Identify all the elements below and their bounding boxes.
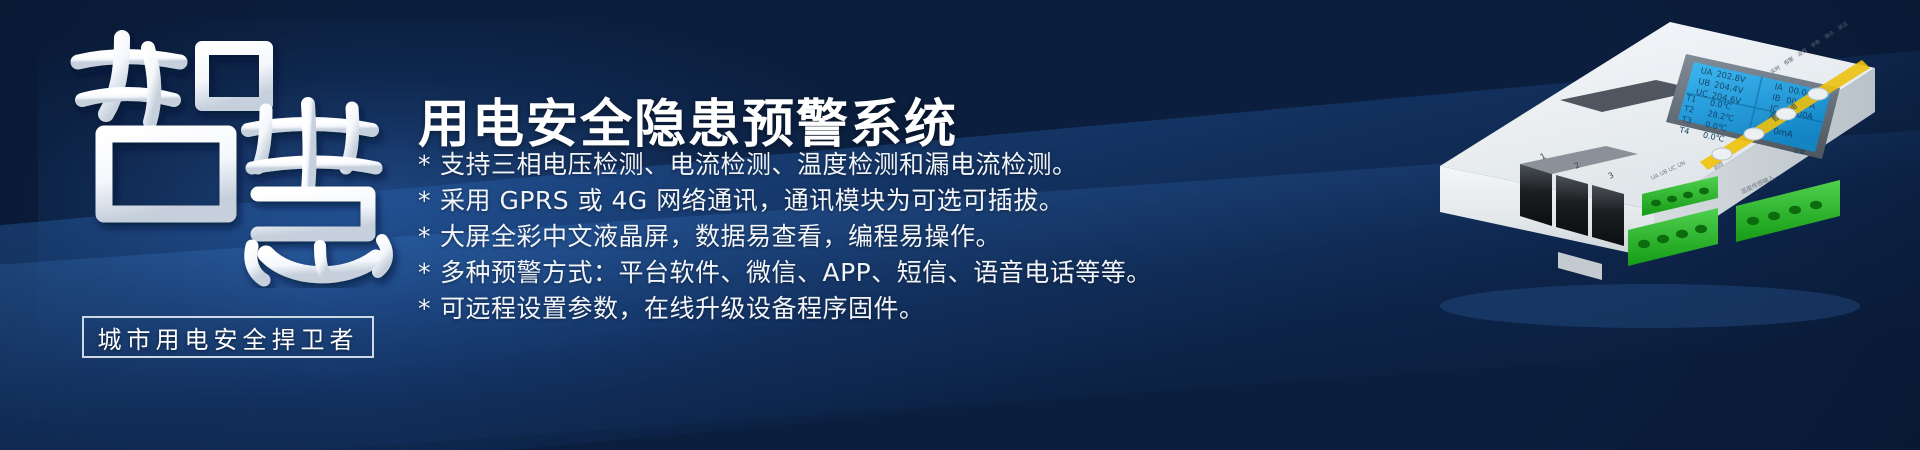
din-rail-clip <box>1558 252 1602 280</box>
page-title: 用电安全隐患预警系统 <box>418 82 958 157</box>
bullet-marker: * <box>418 150 431 179</box>
device-shadow <box>1440 284 1860 328</box>
promo-banner: 城市用电安全捍卫者 用电安全隐患预警系统 *支持三相电压检测、电流检测、温度检测… <box>0 0 1920 450</box>
list-item: *采用 GPRS 或 4G 网络通讯，通讯模块为可选可插拔。 <box>418 184 1152 217</box>
list-item: *可远程设置参数，在线升级设备程序固件。 <box>418 292 1152 325</box>
list-item: *支持三相电压检测、电流检测、温度检测和漏电流检测。 <box>418 148 1152 181</box>
panel-tab-5[interactable]: 调试 <box>1836 19 1850 32</box>
tagline-text: 城市用电安全捍卫者 <box>98 320 359 355</box>
panel-tab-4[interactable]: 通讯 <box>1822 28 1836 41</box>
bullet-text: 可远程设置参数，在线升级设备程序固件。 <box>440 294 925 323</box>
bullet-text: 采用 GPRS 或 4G 网络通讯，通讯模块为可选可插拔。 <box>440 186 1064 215</box>
list-item: *多种预警方式：平台软件、微信、APP、短信、语音电话等等。 <box>418 256 1152 289</box>
tagline-box: 城市用电安全捍卫者 <box>82 316 374 358</box>
bullet-marker: * <box>418 186 431 215</box>
panel-tab-3[interactable]: 参数 <box>1809 37 1823 50</box>
bullet-marker: * <box>418 258 431 287</box>
bullet-text: 支持三相电压检测、电流检测、温度检测和漏电流检测。 <box>440 150 1078 179</box>
product-device-image: UA 202.8V UB 204.4V UC 204.6V IA 00.00A … <box>1370 0 1890 354</box>
bullet-text: 多种预警方式：平台软件、微信、APP、短信、语音电话等等。 <box>440 258 1152 287</box>
bullet-marker: * <box>418 294 431 323</box>
feature-list: *支持三相电压检测、电流检测、温度检测和漏电流检测。 *采用 GPRS 或 4G… <box>418 148 1152 325</box>
bullet-text: 大屏全彩中文液晶屏，数据易查看，编程易操作。 <box>440 222 1001 251</box>
bullet-marker: * <box>418 222 431 251</box>
calligraphy-logo <box>52 18 442 288</box>
list-item: *大屏全彩中文液晶屏，数据易查看，编程易操作。 <box>418 220 1152 253</box>
